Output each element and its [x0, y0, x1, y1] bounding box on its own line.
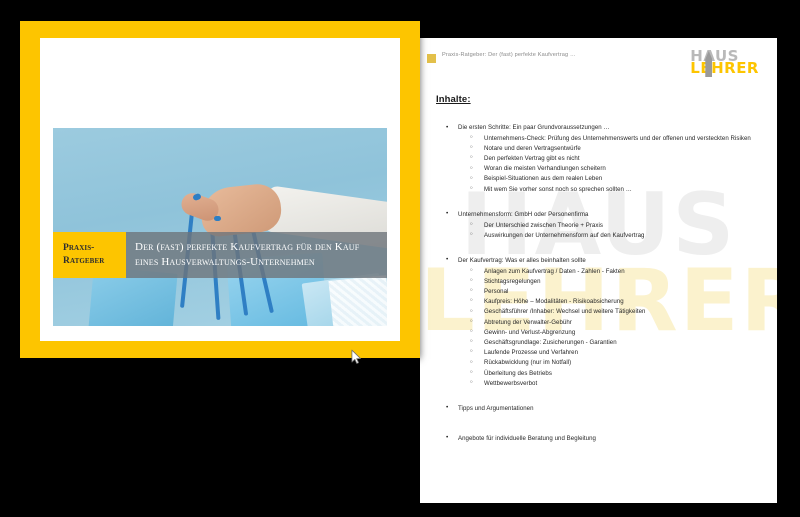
toc-item[interactable]: Unternehmens-Check: Prüfung des Unterneh… [436, 134, 761, 143]
table-of-contents: Die ersten Schritte: Ein paar Grundvorau… [436, 123, 761, 455]
document-content: Inhalte: Die ersten Schritte: Ein paar G… [420, 38, 777, 503]
toc-spacer [436, 389, 761, 396]
toc-spacer [436, 444, 761, 455]
logo-line-2: LEHRER [690, 62, 759, 74]
cover-photo [53, 128, 387, 326]
cover-badge: Praxis- Ratgeber [53, 232, 126, 278]
toc-item[interactable]: Wettbewerbsverbot [436, 379, 761, 388]
cover-title-line-1: Der (fast) perfekte Kaufvertrag für den … [135, 240, 378, 255]
toc-section: Angebote für individuelle Beratung und B… [436, 434, 761, 456]
toc-item[interactable]: Woran die meisten Verhandlungen scheiter… [436, 164, 761, 173]
toc-section-heading[interactable]: Unternehmensform: GmbH oder Personenfirm… [436, 210, 761, 219]
toc-section: Tipps und Argumentationen [436, 404, 761, 426]
toc-item[interactable]: Laufende Prozesse und Verfahren [436, 348, 761, 357]
toc-section: Der Kaufvertrag: Was er alles beinhalten… [436, 256, 761, 396]
document-page-inner: HAUS LEHRER Praxis-Ratgeber: Der (fast) … [420, 38, 777, 503]
toc-item[interactable]: Geschäftsführer /Inhaber: Wechsel und we… [436, 307, 761, 316]
toc-item[interactable]: Auswirkungen der Unternehmensform auf de… [436, 231, 761, 240]
cover-title-line-2: eines Hausverwaltungs-Unternehmen [135, 255, 378, 270]
toc-section: Die ersten Schritte: Ein paar Grundvorau… [436, 123, 761, 202]
toc-item[interactable]: Abtretung der Verwalter-Gebühr [436, 318, 761, 327]
toc-item[interactable]: Beispiel-Situationen aus dem realen Lebe… [436, 174, 761, 183]
toc-item[interactable]: Rückabwicklung (nur im Notfall) [436, 358, 761, 367]
toc-item[interactable]: Gewinn- und Verlust-Abgrenzung [436, 328, 761, 337]
toc-spacer [436, 241, 761, 248]
mouse-cursor-icon [351, 349, 362, 365]
screen-root: HAUS LEHRER Praxis-Ratgeber: Der (fast) … [0, 0, 800, 517]
toc-spacer [436, 195, 761, 202]
cover-badge-line-1: Praxis- [63, 242, 126, 255]
toc-item[interactable]: Personal [436, 287, 761, 296]
toc-item[interactable]: Überleitung des Betriebs [436, 369, 761, 378]
cover-title-band: Praxis- Ratgeber Der (fast) perfekte Kau… [53, 232, 387, 278]
cover-badge-line-2: Ratgeber [63, 255, 126, 268]
haus-lehrer-logo: HAUS LEHRER [690, 50, 759, 75]
toc-item[interactable]: Geschäftsgrundlage: Zusicherungen - Gara… [436, 338, 761, 347]
toc-item[interactable]: Kaufpreis: Höhe – Modalitäten - Risikoab… [436, 297, 761, 306]
cover-title: Der (fast) perfekte Kaufvertrag für den … [126, 232, 387, 278]
toc-section-heading[interactable]: Der Kaufvertrag: Was er alles beinhalten… [436, 256, 761, 265]
toc-item[interactable]: Anlagen zum Kaufvertrag / Daten - Zahlen… [436, 267, 761, 276]
toc-item[interactable]: Der Unterschied zwischen Theorie + Praxi… [436, 221, 761, 230]
cover-card[interactable]: Praxis- Ratgeber Der (fast) perfekte Kau… [20, 21, 420, 358]
toc-section-heading[interactable]: Angebote für individuelle Beratung und B… [436, 434, 761, 443]
toc-item[interactable]: Notare und deren Vertragsentwürfe [436, 144, 761, 153]
page-title: Inhalte: [436, 94, 761, 105]
toc-section-heading[interactable]: Die ersten Schritte: Ein paar Grundvorau… [436, 123, 761, 132]
fingernail-2 [214, 216, 221, 221]
toc-section: Unternehmensform: GmbH oder Personenfirm… [436, 210, 761, 248]
toc-item[interactable]: Den perfekten Vertrag gibt es nicht [436, 154, 761, 163]
toc-section-heading[interactable]: Tipps und Argumentationen [436, 404, 761, 413]
document-page[interactable]: HAUS LEHRER Praxis-Ratgeber: Der (fast) … [420, 38, 777, 503]
cover-inner-page: Praxis- Ratgeber Der (fast) perfekte Kau… [40, 38, 400, 341]
toc-spacer [436, 415, 761, 426]
toc-item[interactable]: Stichtagsregelungen [436, 277, 761, 286]
toc-item[interactable]: Mit wem Sie vorher sonst noch so spreche… [436, 185, 761, 194]
tissue-paper [328, 275, 387, 326]
